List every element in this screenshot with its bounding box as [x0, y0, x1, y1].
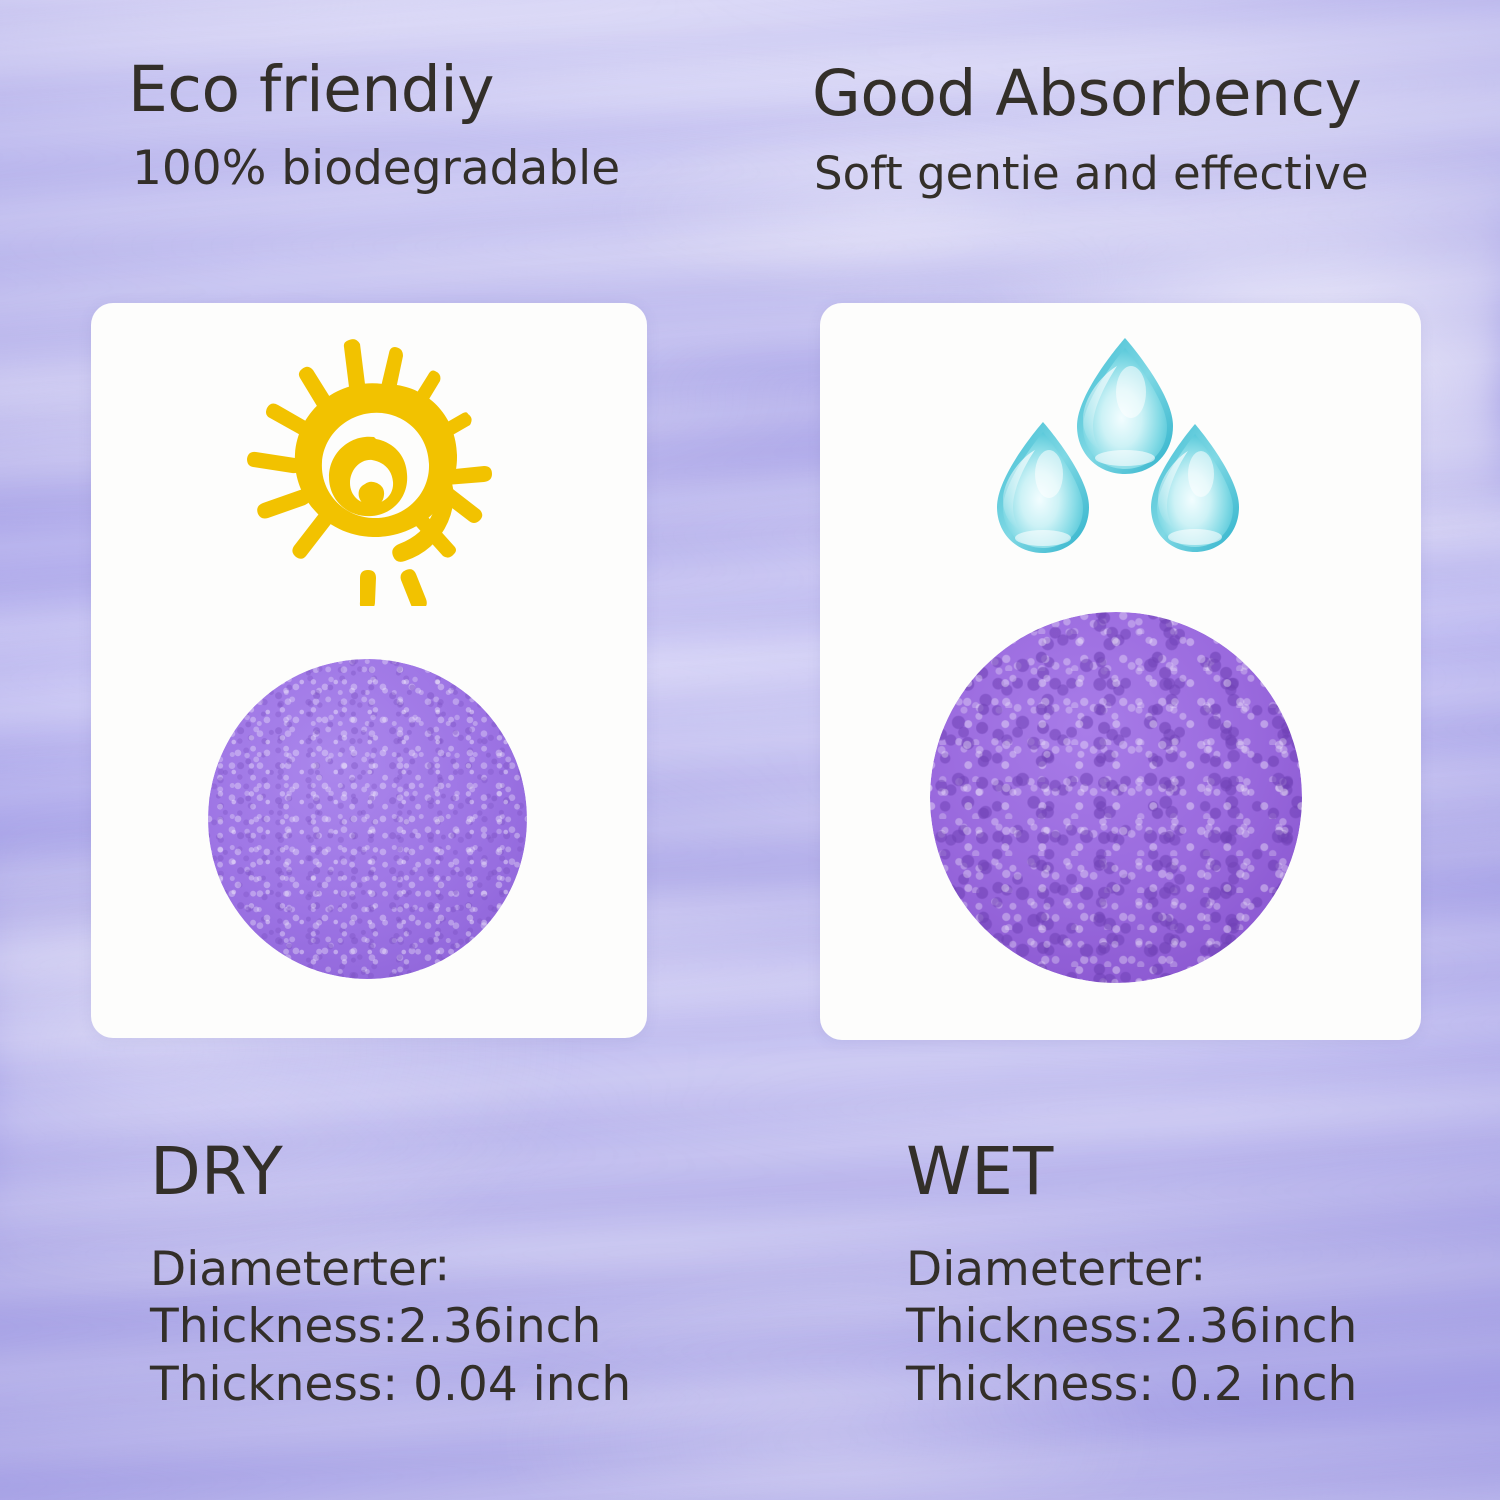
spec-line: Thickness:2.36inch [906, 1298, 1357, 1355]
eco-subtitle: 100% biodegradable [132, 145, 620, 192]
feature-heading-absorbency: Good Absorbency Soft gentie and effectiv… [812, 62, 1369, 196]
spec-line: Thickness: 0.04 inch [150, 1356, 631, 1413]
sponge-disc-dry [208, 659, 527, 979]
spec-list-dry: Diameterter∶ Thickness:2.36inch Thicknes… [150, 1241, 631, 1413]
state-label-wet: WET [906, 1139, 1357, 1205]
feature-heading-eco: Eco friendiy 100% biodegradable [128, 58, 620, 192]
spec-list-wet: Diameterter∶ Thickness:2.36inch Thicknes… [906, 1241, 1357, 1413]
water-drops-icon [985, 332, 1265, 580]
spec-block-dry: DRY Diameterter∶ Thickness:2.36inch Thic… [150, 1139, 631, 1413]
spec-line: Diameterter∶ [906, 1241, 1357, 1298]
absorbency-title: Good Absorbency [812, 62, 1369, 125]
spec-block-wet: WET Diameterter∶ Thickness:2.36inch Thic… [906, 1139, 1357, 1413]
sponge-disc-wet [930, 612, 1302, 983]
sponge-wet-rim [930, 612, 1302, 983]
spec-line: Thickness:2.36inch [150, 1298, 631, 1355]
infographic-canvas: Eco friendiy 100% biodegradable Good Abs… [0, 0, 1500, 1500]
sun-icon [232, 338, 522, 606]
water-drop-left [997, 422, 1089, 553]
eco-title: Eco friendiy [128, 58, 620, 121]
sponge-dry-rim [208, 659, 527, 979]
state-label-dry: DRY [150, 1139, 631, 1205]
spec-line: Diameterter∶ [150, 1241, 631, 1298]
spec-line: Thickness: 0.2 inch [906, 1356, 1357, 1413]
absorbency-subtitle: Soft gentie and effective [814, 151, 1369, 196]
water-drop-top [1077, 338, 1173, 474]
